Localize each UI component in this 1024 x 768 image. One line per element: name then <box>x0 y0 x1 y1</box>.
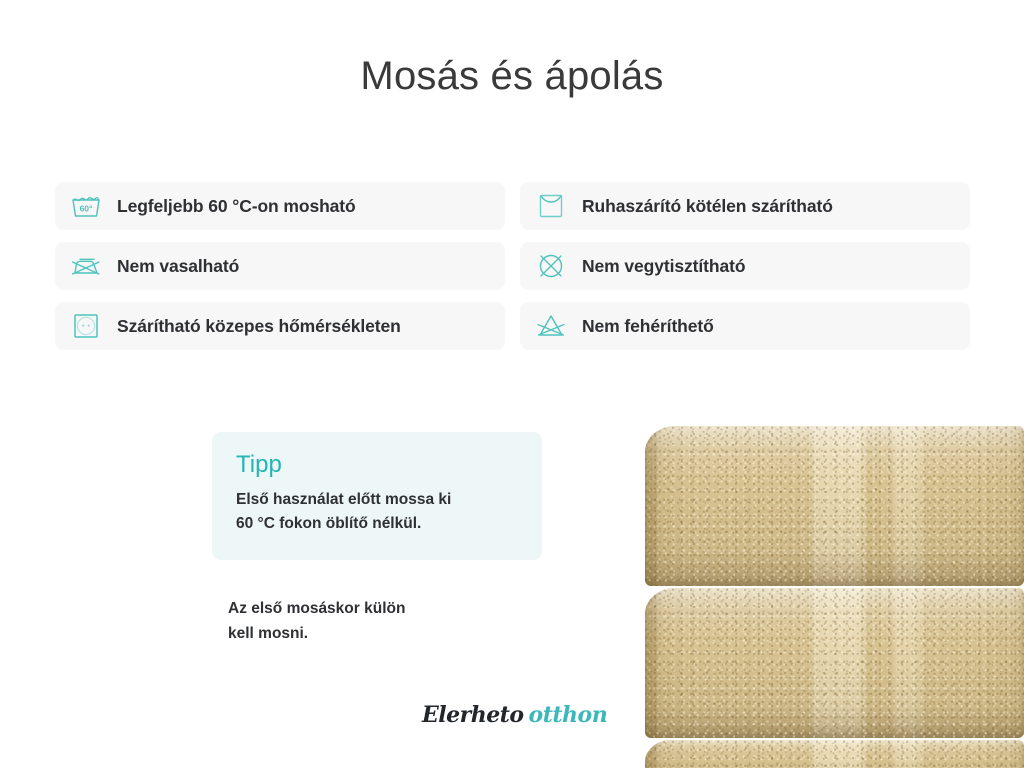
first-wash-note: Az első mosáskor külön kell mosni. <box>228 596 558 646</box>
tip-callout-box: Tipp Első használat előtt mossa ki 60 °C… <box>212 432 542 560</box>
towel-roll-top <box>645 426 1024 586</box>
care-card-no-iron: Nem vasalható <box>55 242 505 290</box>
care-label-text: Nem vasalható <box>117 256 239 277</box>
tip-body-text: Első használat előtt mossa ki 60 °C foko… <box>236 488 518 536</box>
care-card-wash-60: 60° Legfeljebb 60 °C-on mosható <box>55 182 505 230</box>
brand-logo-part-one: Elerheto <box>422 702 524 728</box>
care-label-text: Nem vegytisztítható <box>582 256 745 277</box>
care-card-no-bleach: Nem fehéríthető <box>520 302 970 350</box>
towel-stack-photo <box>645 418 1024 768</box>
tumble-dry-medium-icon <box>69 309 103 343</box>
towel-roll-middle <box>645 588 1024 738</box>
towel-roll-bottom <box>645 740 1024 768</box>
brand-logo-part-two: otthon <box>529 702 608 728</box>
care-card-tumble-dry-medium: Szárítható közepes hőmérsékleten <box>55 302 505 350</box>
care-instructions-page: Mosás és ápolás 60° Legfeljebb 60 °C-on … <box>0 0 1024 768</box>
brand-logo: Elerhetootthon <box>422 702 607 728</box>
towel-stack-illustration <box>645 418 1024 768</box>
page-title: Mosás és ápolás <box>0 54 1024 99</box>
care-instruction-grid: 60° Legfeljebb 60 °C-on mosható Ruhaszár… <box>55 182 970 350</box>
care-card-no-dry-clean: Nem vegytisztítható <box>520 242 970 290</box>
care-label-text: Legfeljebb 60 °C-on mosható <box>117 196 356 217</box>
bleach-crossed-out-icon <box>534 309 568 343</box>
care-label-text: Szárítható közepes hőmérsékleten <box>117 316 401 337</box>
line-dry-icon <box>534 189 568 223</box>
tip-title: Tipp <box>236 452 518 478</box>
svg-text:60°: 60° <box>80 204 93 214</box>
iron-crossed-out-icon <box>69 249 103 283</box>
care-card-line-dry: Ruhaszárító kötélen szárítható <box>520 182 970 230</box>
care-label-text: Ruhaszárító kötélen szárítható <box>582 196 833 217</box>
dry-clean-crossed-out-icon <box>534 249 568 283</box>
wash-tub-60-icon: 60° <box>69 189 103 223</box>
care-label-text: Nem fehéríthető <box>582 316 714 337</box>
